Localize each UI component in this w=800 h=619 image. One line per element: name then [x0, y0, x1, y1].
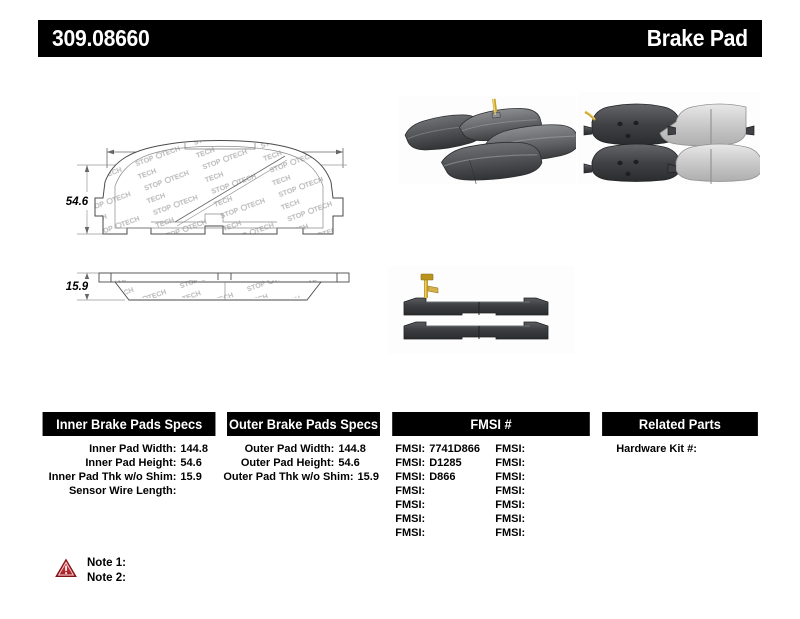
- brake-pad-set-angled-photo: [398, 96, 576, 184]
- spec-value: [180, 484, 220, 498]
- spec-label: Outer Pad Height:: [223, 456, 338, 470]
- fmsi-row: FMSI:: [495, 512, 595, 526]
- column-header-outer: Outer Brake Pads Specs: [227, 412, 380, 436]
- fmsi-label: FMSI:: [395, 499, 425, 511]
- spec-row: Outer Pad Width: 144.8: [223, 442, 384, 456]
- fmsi-label: FMSI:: [495, 513, 525, 525]
- fmsi-sub-column-right: FMSI: FMSI: FMSI: FMSI: FMSI: FMSI:: [495, 442, 595, 540]
- fmsi-label: FMSI:: [395, 443, 425, 455]
- fmsi-label: FMSI:: [395, 527, 425, 539]
- spec-value: 15.9: [180, 470, 220, 484]
- note-row: Note 1:: [87, 556, 126, 571]
- column-outer-brake-pads-specs: Outer Brake Pads Specs Outer Pad Width: …: [223, 412, 384, 540]
- brake-pad-face-view: [85, 135, 355, 240]
- fmsi-label: FMSI:: [495, 443, 525, 455]
- spec-label: Sensor Wire Length:: [38, 484, 180, 498]
- fmsi-value: D866: [429, 471, 455, 483]
- fmsi-row: FMSI:: [495, 498, 595, 512]
- product-type: Brake Pad: [647, 25, 748, 52]
- column-header-fmsi: FMSI #: [392, 412, 590, 436]
- column-body-fmsi: FMSI:7741D866 FMSI:D1285 FMSI:D866 FMSI:…: [387, 436, 595, 540]
- column-body-inner: Inner Pad Width: 144.8 Inner Pad Height:…: [38, 436, 220, 498]
- spec-row: Inner Pad Width: 144.8: [38, 442, 220, 456]
- fmsi-label: FMSI:: [495, 485, 525, 497]
- fmsi-row: FMSI:: [495, 470, 595, 484]
- fmsi-row: FMSI:D1285: [395, 456, 495, 470]
- fmsi-label: FMSI:: [395, 471, 425, 483]
- fmsi-value: D1285: [429, 457, 461, 469]
- fmsi-label: FMSI:: [495, 471, 525, 483]
- warning-triangle-icon: [55, 558, 77, 578]
- column-related-parts: Related Parts Hardware Kit #:: [598, 412, 762, 540]
- notes-list: Note 1: Note 2:: [87, 556, 126, 586]
- related-part-row: Hardware Kit #:: [598, 442, 762, 456]
- title-bar: 309.08660 Brake Pad: [38, 20, 762, 57]
- spec-row: Sensor Wire Length:: [38, 484, 220, 498]
- part-number: 309.08660: [52, 25, 150, 52]
- spec-row: Outer Pad Thk w/o Shim: 15.9: [223, 470, 384, 484]
- fmsi-row: FMSI:: [395, 512, 495, 526]
- specifications-table: Inner Brake Pads Specs Inner Pad Width: …: [38, 412, 762, 540]
- spec-label: Outer Pad Width:: [223, 442, 338, 456]
- spec-value: 54.6: [180, 456, 220, 470]
- spec-value: 144.8: [338, 442, 378, 456]
- spec-row: Inner Pad Height: 54.6: [38, 456, 220, 470]
- note-label: Note 2:: [87, 572, 126, 584]
- note-row: Note 2:: [87, 571, 126, 586]
- column-body-related-parts: Hardware Kit #:: [598, 436, 762, 456]
- fmsi-row: FMSI:: [395, 526, 495, 540]
- dimension-thickness-label: 15.9: [66, 281, 89, 293]
- brake-pad-edge-view: [99, 273, 349, 302]
- column-header-related-parts: Related Parts: [602, 412, 758, 436]
- column-body-outer: Outer Pad Width: 144.8 Outer Pad Height:…: [223, 436, 384, 484]
- column-fmsi: FMSI # FMSI:7741D866 FMSI:D1285 FMSI:D86…: [387, 412, 595, 540]
- spec-label: Outer Pad Thk w/o Shim:: [223, 470, 357, 484]
- notes-section: Note 1: Note 2:: [55, 556, 126, 586]
- note-label: Note 1:: [87, 557, 126, 569]
- technical-drawing: STOP TECH STOP TECH: [55, 130, 395, 320]
- fmsi-value: 7741D866: [429, 443, 480, 455]
- column-inner-brake-pads-specs: Inner Brake Pads Specs Inner Pad Width: …: [38, 412, 220, 540]
- fmsi-row: FMSI:: [495, 484, 595, 498]
- spec-value: 144.8: [180, 442, 220, 456]
- fmsi-label: FMSI:: [495, 457, 525, 469]
- fmsi-row: FMSI:: [495, 456, 595, 470]
- dimension-height-label: 54.6: [66, 196, 89, 208]
- related-part-label: Hardware Kit #:: [616, 443, 697, 455]
- brake-pad-set-faces-photo: [578, 92, 760, 184]
- fmsi-label: FMSI:: [395, 513, 425, 525]
- fmsi-label: FMSI:: [495, 499, 525, 511]
- fmsi-row: FMSI:: [495, 526, 595, 540]
- fmsi-row: FMSI:: [395, 484, 495, 498]
- fmsi-row: FMSI:D866: [395, 470, 495, 484]
- fmsi-sub-column-left: FMSI:7741D866 FMSI:D1285 FMSI:D866 FMSI:…: [395, 442, 495, 540]
- spec-row: Inner Pad Thk w/o Shim: 15.9: [38, 470, 220, 484]
- fmsi-label: FMSI:: [395, 485, 425, 497]
- fmsi-label: FMSI:: [495, 527, 525, 539]
- fmsi-row: FMSI:: [395, 498, 495, 512]
- spec-label: Inner Pad Width:: [38, 442, 180, 456]
- fmsi-row: FMSI:: [495, 442, 595, 456]
- brake-pad-edge-view-photo: [388, 266, 574, 354]
- column-header-inner: Inner Brake Pads Specs: [43, 412, 216, 436]
- spec-value: 54.6: [338, 456, 378, 470]
- spec-label: Inner Pad Height:: [38, 456, 180, 470]
- spec-label: Inner Pad Thk w/o Shim:: [38, 470, 180, 484]
- fmsi-row: FMSI:7741D866: [395, 442, 495, 456]
- spec-row: Outer Pad Height: 54.6: [223, 456, 384, 470]
- fmsi-label: FMSI:: [395, 457, 425, 469]
